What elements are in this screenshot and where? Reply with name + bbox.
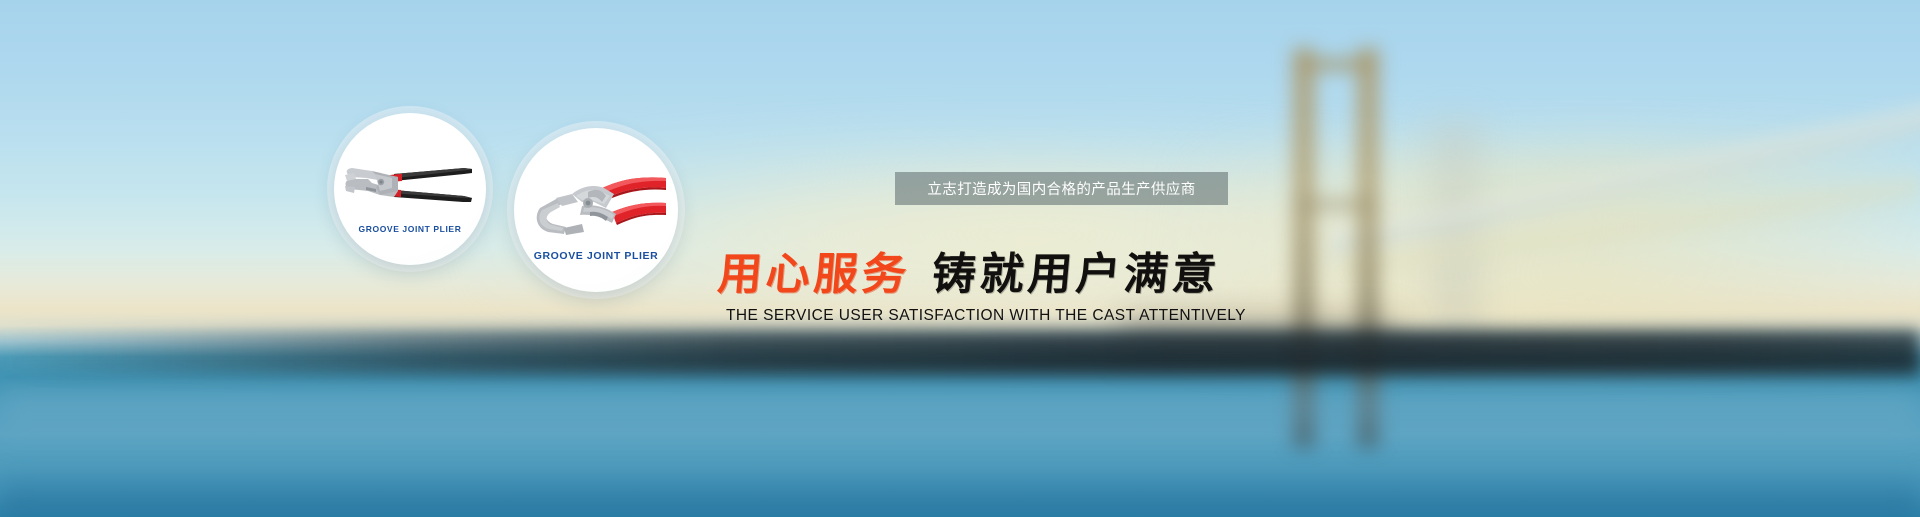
- bridge-tower: [1285, 48, 1393, 448]
- groove-joint-plier-red-icon: [526, 168, 668, 240]
- headline-primary: 用心服务: [716, 253, 912, 297]
- headline: 用心服务 铸就用户满意: [718, 247, 1238, 303]
- subtitle-text: 立志打造成为国内合格的产品生产供应商: [927, 178, 1195, 199]
- water-highlight-band: [0, 392, 1920, 442]
- bridge-deck-shadow: [0, 356, 1920, 372]
- product-circle-1[interactable]: GROOVE JOINT PLIER: [334, 113, 486, 265]
- promo-banner: GROOVE JOINT PLIER: [0, 0, 1920, 517]
- groove-joint-plier-black-icon: [342, 155, 478, 213]
- tagline-english: THE SERVICE USER SATISFACTION WITH THE C…: [726, 307, 1286, 325]
- bridge-tower-leg-left: [1293, 48, 1315, 448]
- bridge-suspension-cable-lower: [1340, 150, 1920, 300]
- headline-secondary: 铸就用户满意: [930, 253, 1222, 297]
- product-image-1: [334, 113, 486, 265]
- subtitle-bar: 立志打造成为国内合格的产品生产供应商: [895, 172, 1228, 205]
- bridge-tower-crossbeam-top: [1293, 58, 1379, 71]
- bridge-tower-crossbeam-mid: [1293, 198, 1379, 211]
- product-image-2: [514, 128, 678, 292]
- water-dark-band: [0, 470, 1920, 517]
- bridge-tower-leg-right: [1357, 48, 1379, 448]
- product-circle-2[interactable]: GROOVE JOINT PLIER: [514, 128, 678, 292]
